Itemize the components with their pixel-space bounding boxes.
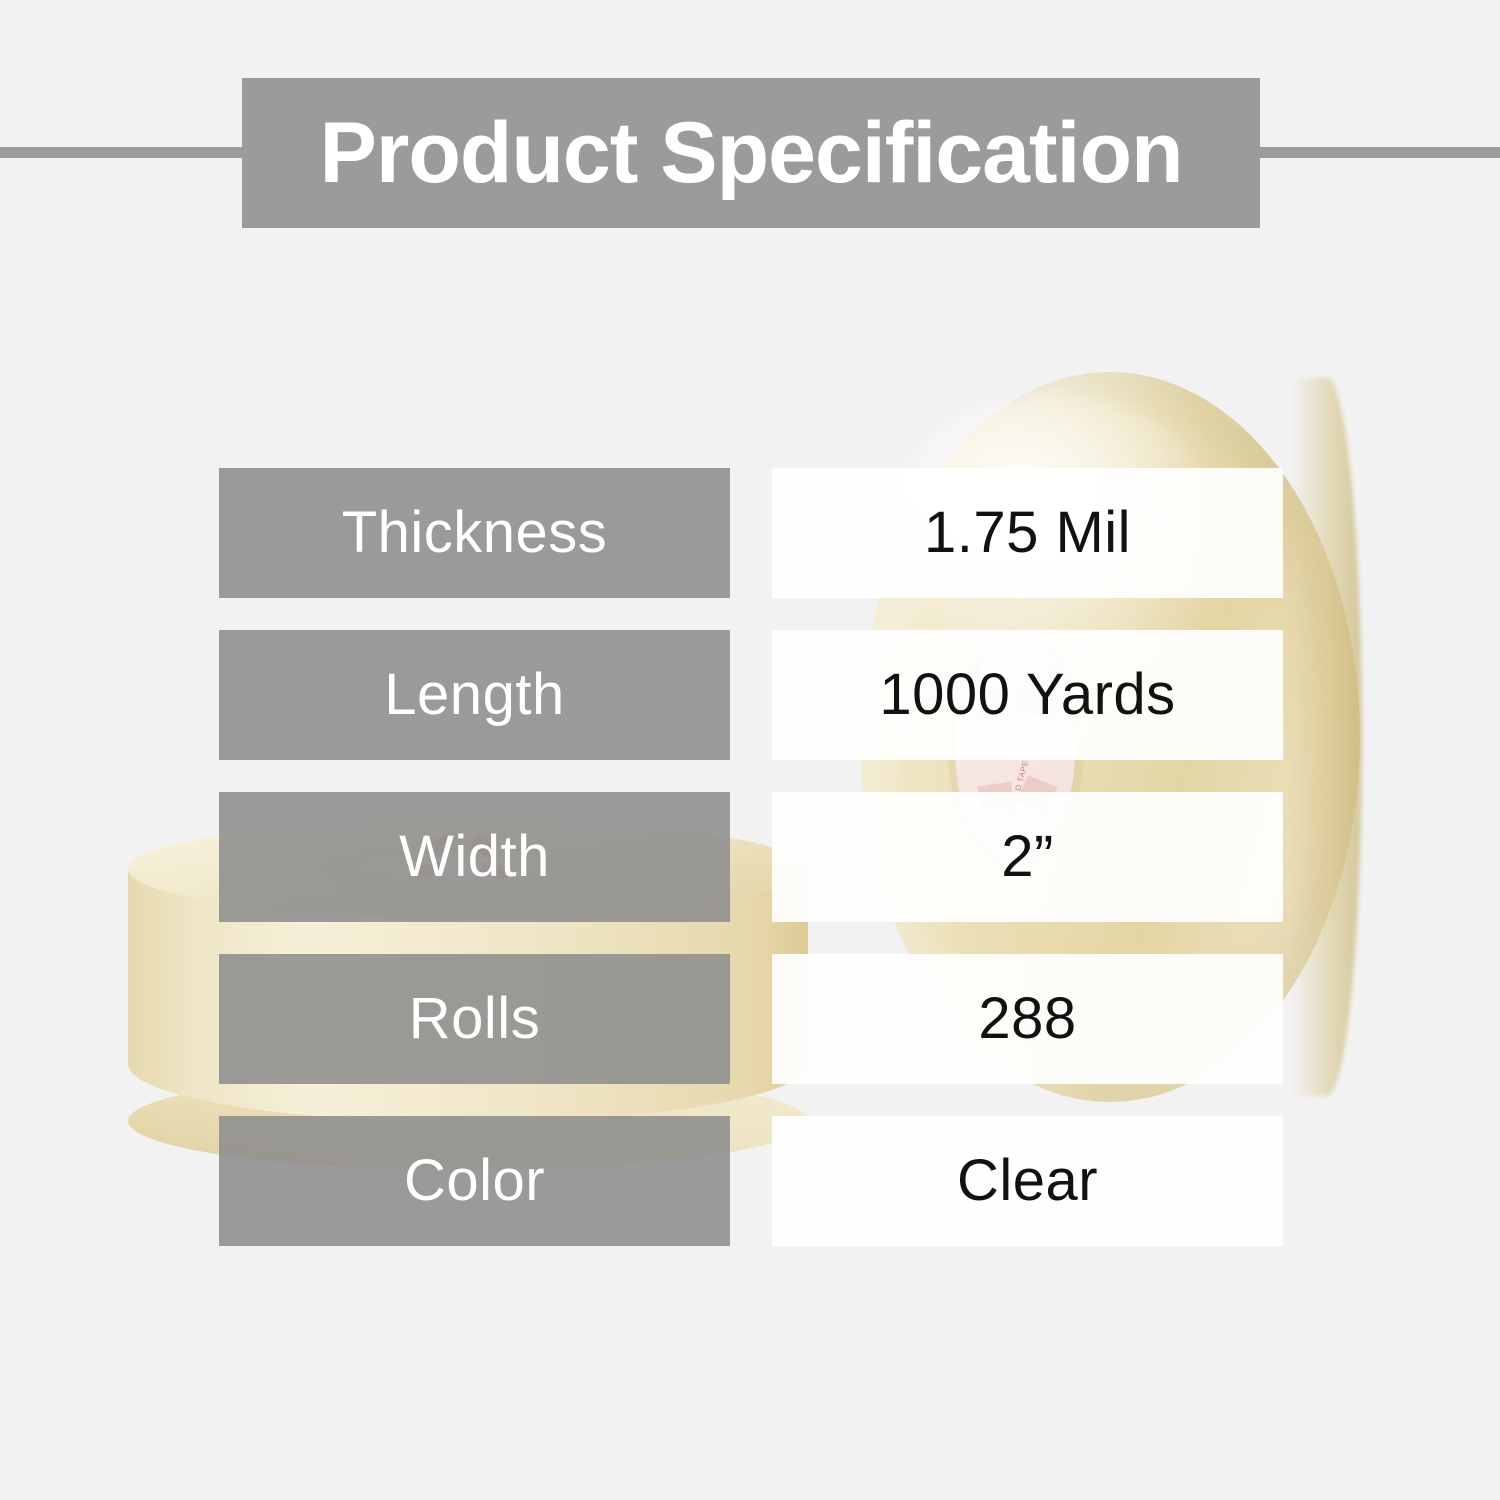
spec-label-text: Width xyxy=(399,828,550,886)
spec-value-text: 1.75 Mil xyxy=(924,504,1131,562)
table-row: Length 1000 Yards xyxy=(219,630,1283,760)
spec-label-text: Thickness xyxy=(342,504,608,562)
spec-label-text: Length xyxy=(384,666,564,724)
spec-label-text: Rolls xyxy=(409,990,540,1048)
spec-label-cell: Length xyxy=(219,630,730,760)
spec-value-text: 288 xyxy=(978,990,1076,1048)
product-spec-canvas: Product Specification SHIELD TAPE SHIELD… xyxy=(0,0,1500,1500)
spec-label-cell: Color xyxy=(219,1116,730,1246)
spec-value-cell: Clear xyxy=(772,1116,1283,1246)
spec-value-text: 2” xyxy=(1001,828,1054,886)
table-row: Color Clear xyxy=(219,1116,1283,1246)
spec-value-cell: 2” xyxy=(772,792,1283,922)
spec-value-text: Clear xyxy=(957,1152,1098,1210)
spec-label-cell: Thickness xyxy=(219,468,730,598)
spec-label-cell: Rolls xyxy=(219,954,730,1084)
spec-label-cell: Width xyxy=(219,792,730,922)
spec-value-text: 1000 Yards xyxy=(879,666,1175,724)
spec-value-cell: 288 xyxy=(772,954,1283,1084)
spec-value-cell: 1000 Yards xyxy=(772,630,1283,760)
spec-label-text: Color xyxy=(404,1152,545,1210)
table-row: Rolls 288 xyxy=(219,954,1283,1084)
table-row: Thickness 1.75 Mil xyxy=(219,468,1283,598)
spec-value-cell: 1.75 Mil xyxy=(772,468,1283,598)
table-row: Width 2” xyxy=(219,792,1283,922)
specification-table: Thickness 1.75 Mil Length 1000 Yards Wid… xyxy=(0,0,1500,1500)
